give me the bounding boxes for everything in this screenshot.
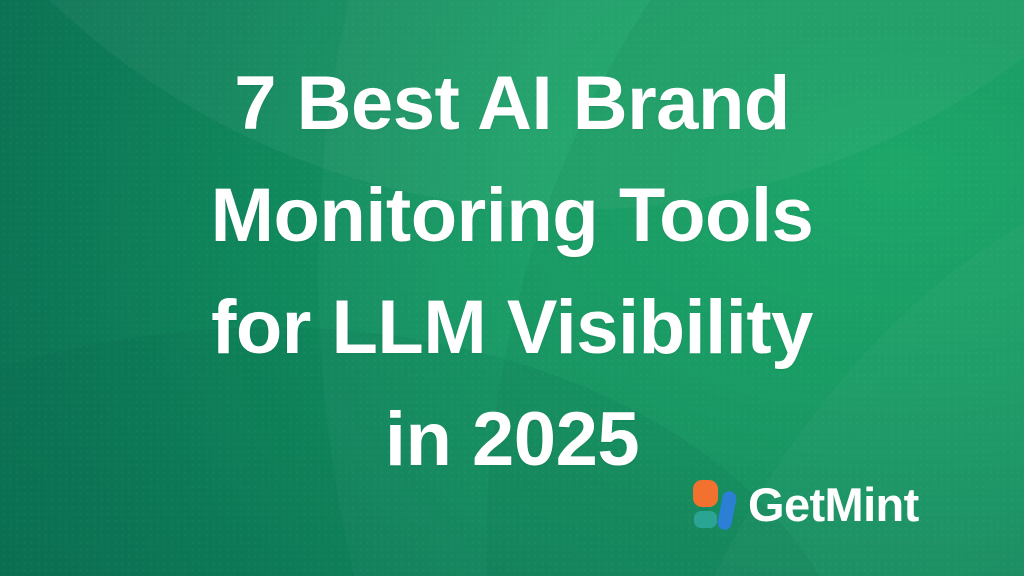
title-line-2: Monitoring Tools — [0, 160, 1024, 272]
thumbnail-canvas: 7 Best AI Brand Monitoring Tools for LLM… — [0, 0, 1024, 576]
page-title: 7 Best AI Brand Monitoring Tools for LLM… — [0, 48, 1024, 496]
rounded-square-orange-icon — [693, 480, 718, 507]
brand-logo: GetMint — [690, 478, 919, 532]
title-line-3: for LLM Visibility — [0, 272, 1024, 384]
brand-name: GetMint — [748, 480, 919, 530]
slanted-bar-blue-icon — [716, 490, 737, 531]
title-line-1: 7 Best AI Brand — [0, 48, 1024, 160]
rounded-rect-teal-icon — [694, 511, 717, 528]
getmint-logo-mark-icon — [690, 478, 736, 532]
